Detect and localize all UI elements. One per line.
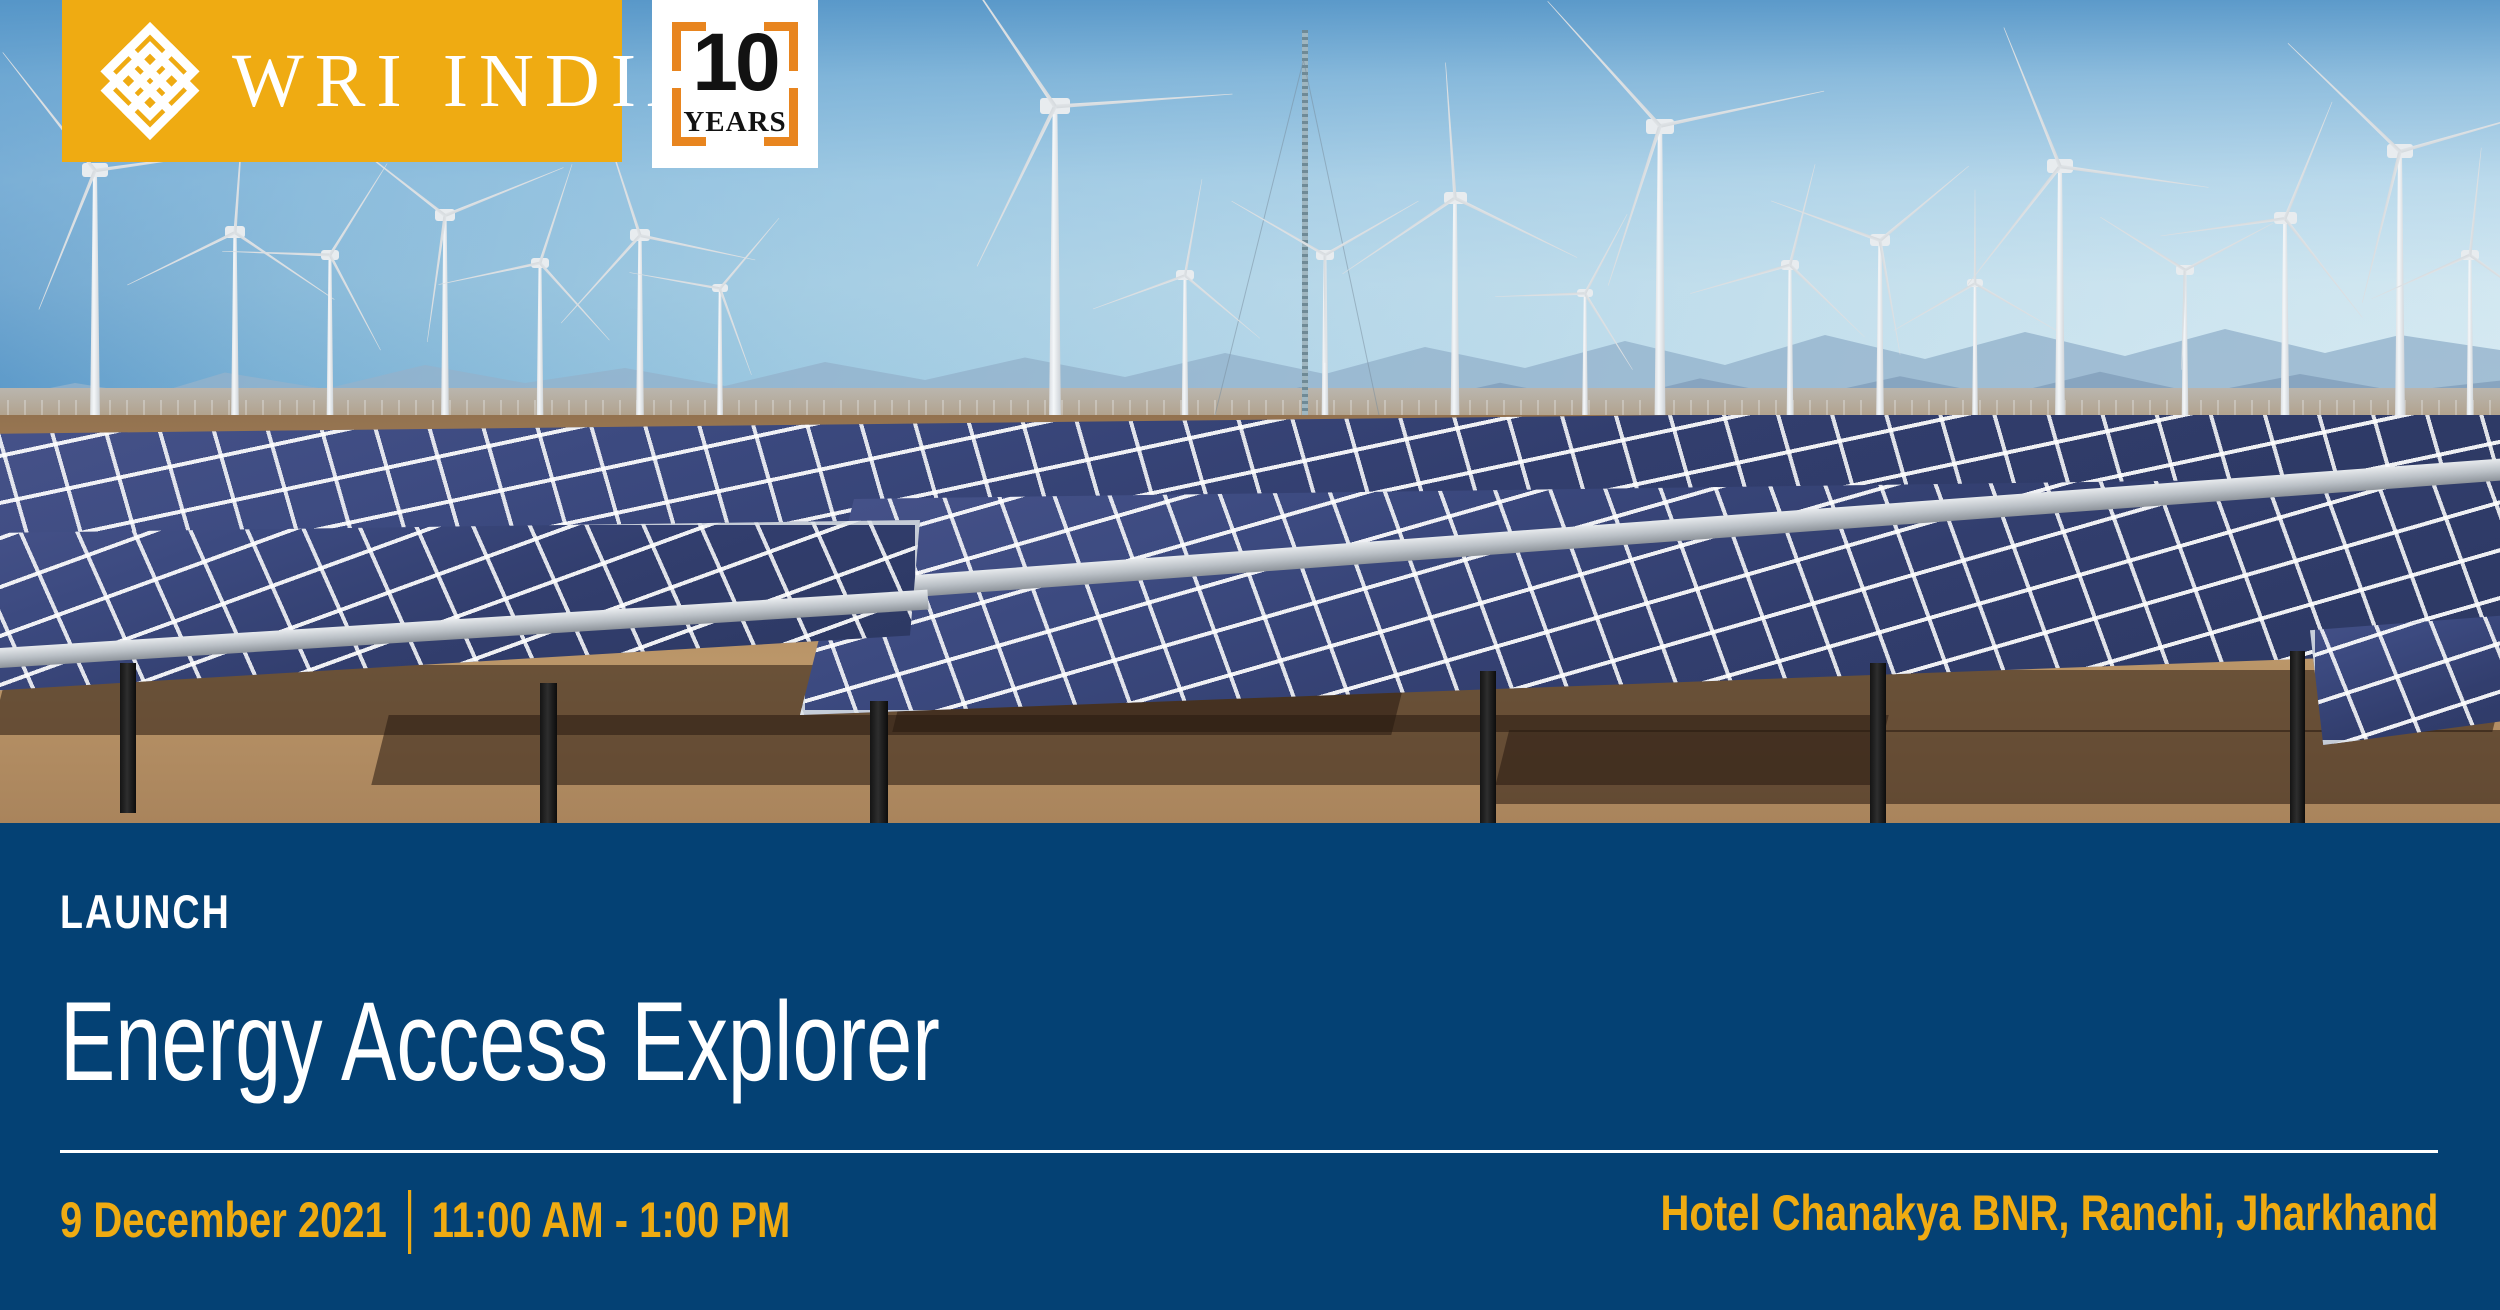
event-title: Energy Access Explorer — [60, 982, 940, 1103]
panel-support-post — [1480, 671, 1496, 823]
event-kicker: LAUNCH — [60, 888, 231, 935]
wind-turbine-icon — [1415, 62, 1495, 468]
event-time: 11:00 AM - 1:00 PM — [432, 1195, 791, 1245]
event-banner: WRI INDIA 10 YEARS LAUNCH Energy Access … — [0, 0, 2500, 1310]
panel-support-post — [1870, 663, 1886, 823]
turbine-blade — [1784, 163, 1821, 267]
turbine-blade — [1319, 255, 1331, 363]
anniversary-label: YEARS — [652, 108, 818, 137]
datetime-separator — [408, 1190, 411, 1254]
panel-support-post — [120, 663, 136, 813]
wind-turbine-icon — [2245, 92, 2325, 468]
wind-turbine-icon — [1015, 0, 1095, 466]
turbine-blade — [2464, 147, 2487, 256]
wri-india-logo-block: WRI INDIA — [62, 0, 622, 162]
event-venue: Hotel Chanakya BNR, Ranchi, Jharkhand — [1660, 1188, 2438, 1238]
wind-turbine-icon — [2360, 0, 2440, 466]
panel-support-post — [2290, 651, 2305, 823]
turbine-blade — [1439, 62, 1462, 199]
ten-years-badge: 10 YEARS — [652, 0, 818, 168]
event-datetime: 9 December 2021 11:00 AM - 1:00 PM — [60, 1188, 790, 1252]
turbine-mast — [1049, 106, 1062, 466]
turbine-blade — [534, 162, 578, 265]
wri-india-wordmark: WRI INDIA — [232, 42, 713, 120]
turbine-blade — [1970, 189, 1981, 283]
anniversary-number: 10 — [652, 22, 818, 104]
panel-support-post — [870, 701, 888, 823]
wind-turbine-icon — [2020, 16, 2100, 466]
turbine-blade — [1180, 178, 1208, 276]
wind-turbine-icon — [1620, 0, 1700, 466]
horizontal-divider — [60, 1150, 2438, 1153]
panel-support-post — [540, 683, 557, 823]
solar-panel-array — [0, 415, 2500, 823]
wri-woven-knot-icon — [90, 20, 210, 142]
event-date: 9 December 2021 — [60, 1195, 387, 1245]
